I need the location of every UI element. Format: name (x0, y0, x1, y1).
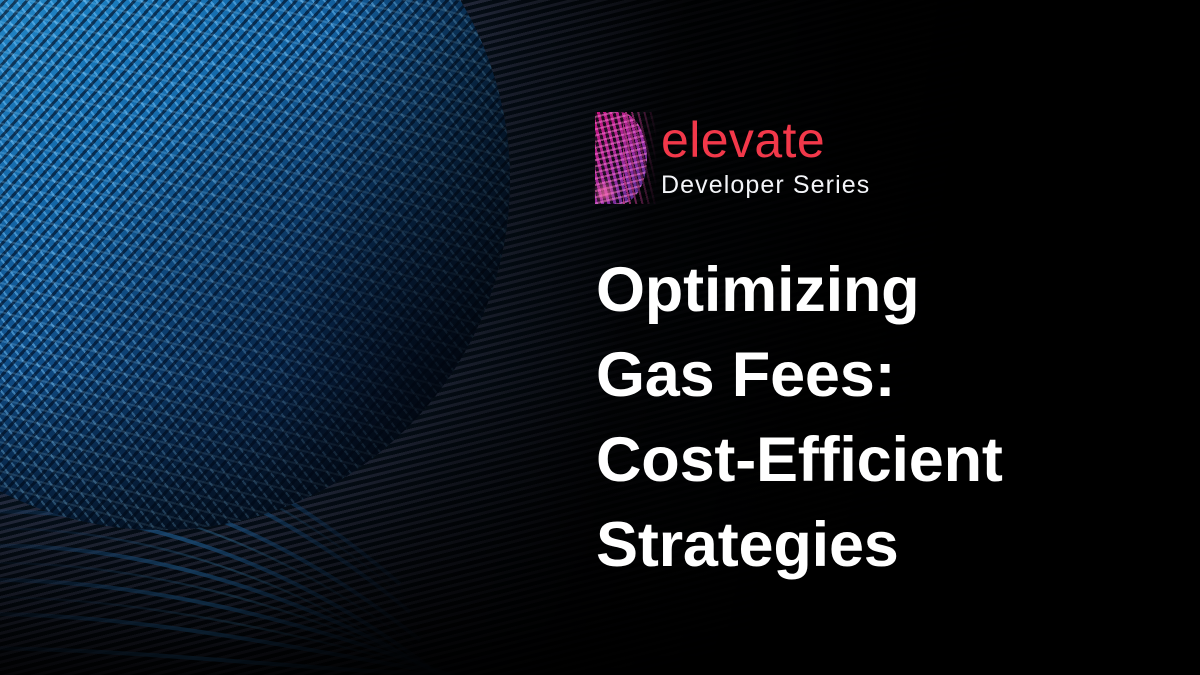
headline-line-4: Strategies (596, 503, 1156, 588)
brand-wordmark: elevate (661, 114, 870, 166)
brand-tagline: Developer Series (661, 170, 870, 200)
headline-line-3: Cost-Efficient (596, 418, 1156, 503)
headline-line-1: Optimizing (596, 248, 1156, 333)
brand-logo-lockup: elevate Developer Series (595, 112, 870, 204)
d-mark-dot-tail (623, 112, 657, 204)
slide-canvas: elevate Developer Series Optimizing Gas … (0, 0, 1200, 675)
headline-line-2: Gas Fees: (596, 333, 1156, 418)
page-title: Optimizing Gas Fees: Cost-Efficient Stra… (596, 248, 1156, 588)
d-mark-glow (597, 166, 627, 200)
brand-logo-text: elevate Developer Series (661, 112, 870, 200)
elevate-d-mark-icon (595, 112, 647, 204)
